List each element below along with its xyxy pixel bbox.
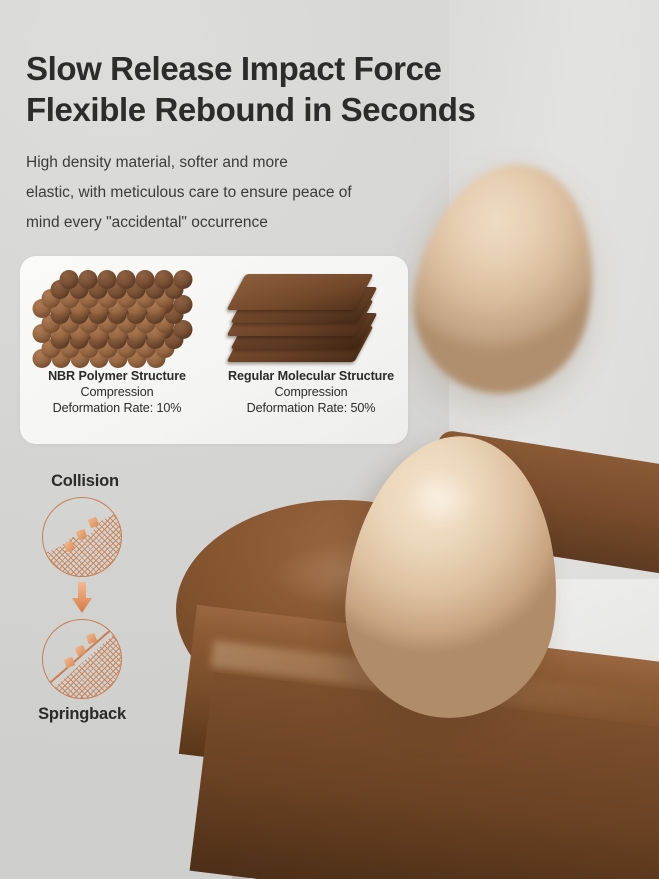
lattice-sphere <box>60 270 79 289</box>
lattice-sphere <box>136 270 155 289</box>
regular-deformation-rate: Deformation Rate: 50% <box>247 401 376 416</box>
nbr-deformation-rate: Deformation Rate: 10% <box>53 401 182 416</box>
lattice-sphere <box>155 270 174 289</box>
sphere-lattice-icon <box>20 264 214 368</box>
lattice-sphere <box>117 270 136 289</box>
regular-structure-title: Regular Molecular Structure <box>228 368 394 384</box>
stacked-plates-icon <box>214 264 408 368</box>
lattice-sphere <box>79 270 98 289</box>
structure-comparison-card: NBR Polymer Structure Compression Deform… <box>20 256 408 444</box>
lattice-sphere <box>174 270 193 289</box>
collision-springback-diagram: Collision <box>22 472 142 724</box>
lattice-sphere <box>98 270 117 289</box>
description-line-1: High density material, softer and more <box>26 148 426 178</box>
headline-line-2: Flexible Rebound in Seconds <box>26 89 586 130</box>
description-text: High density material, softer and more e… <box>26 148 426 238</box>
comparison-column-nbr: NBR Polymer Structure Compression Deform… <box>20 256 214 444</box>
impact-chip <box>75 645 87 657</box>
regular-compression-label: Compression <box>274 385 347 400</box>
springback-flat-circle-icon <box>42 619 122 699</box>
page-title: Slow Release Impact Force Flexible Rebou… <box>26 48 586 130</box>
description-line-3: mind every "accidental" occurrence <box>26 208 426 238</box>
springback-label: Springback <box>22 705 142 724</box>
product-feature-graphic: Slow Release Impact Force Flexible Rebou… <box>0 0 659 879</box>
description-line-2: elastic, with meticulous care to ensure … <box>26 178 426 208</box>
collision-label: Collision <box>28 472 142 491</box>
impact-chip <box>64 657 76 669</box>
collision-dented-circle-icon <box>42 497 122 577</box>
comparison-column-regular: Regular Molecular Structure Compression … <box>214 256 408 444</box>
headline-line-1: Slow Release Impact Force <box>26 48 586 89</box>
stacked-plate <box>226 274 373 310</box>
down-arrow-icon <box>22 577 142 619</box>
